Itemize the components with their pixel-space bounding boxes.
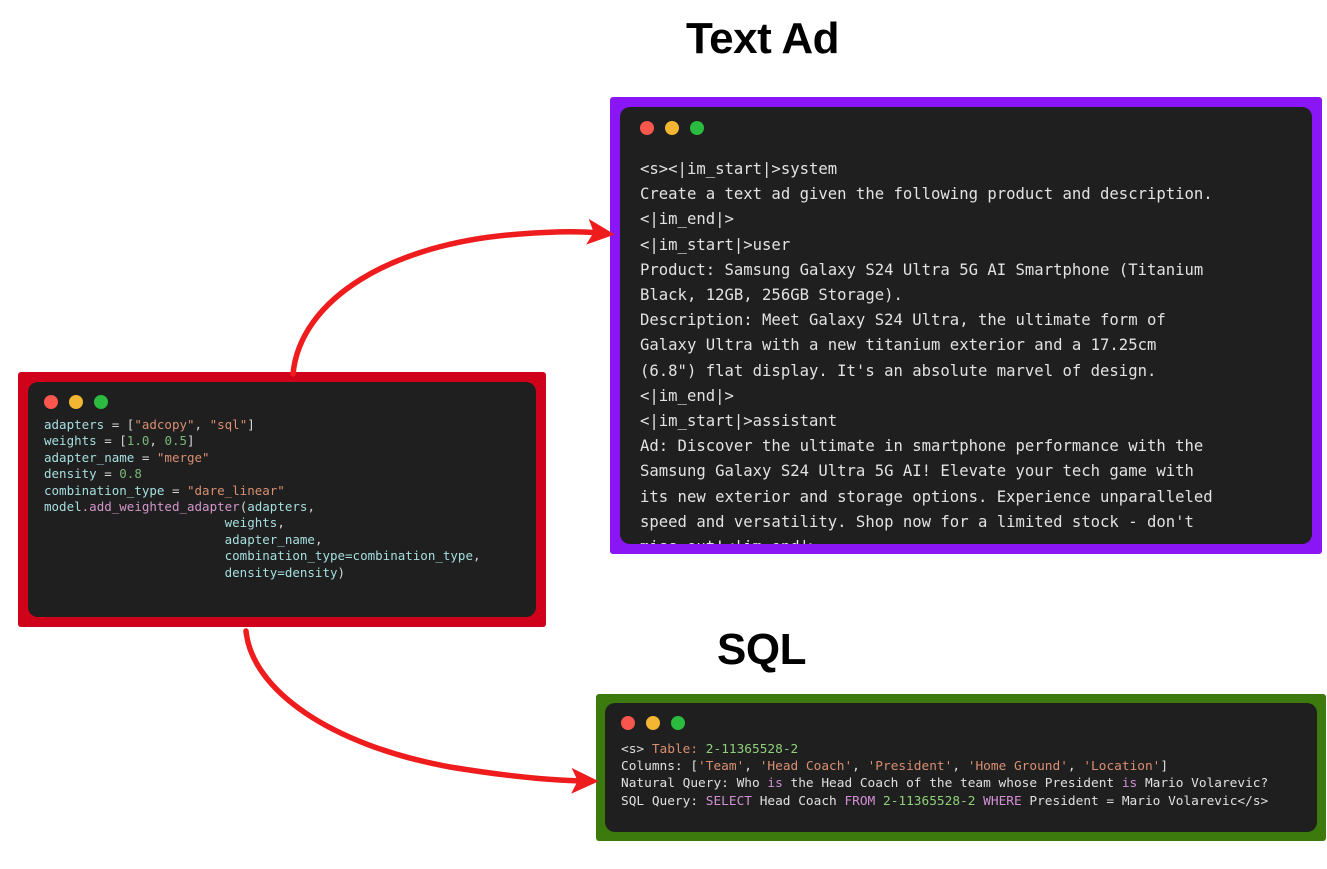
arrow-code-to-text-ad [293,232,600,374]
text-ad-panel: <s><|im_start|>system Create a text ad g… [610,97,1322,554]
window-controls [621,716,1303,730]
close-icon[interactable] [621,716,635,730]
maximize-icon[interactable] [671,716,685,730]
code-panel: adapters = ["adcopy", "sql"] weights = [… [18,372,546,627]
diagram-canvas: Text Ad SQL adapters = ["adcopy", "sql"]… [0,0,1327,869]
minimize-icon[interactable] [69,395,83,409]
maximize-icon[interactable] [94,395,108,409]
code-panel-window: adapters = ["adcopy", "sql"] weights = [… [28,382,536,617]
window-controls [640,121,1296,135]
page-title-text-ad: Text Ad [99,14,1327,64]
minimize-icon[interactable] [665,121,679,135]
page-title-sql: SQL [98,625,1327,675]
maximize-icon[interactable] [690,121,704,135]
sql-code-block: <s> Table: 2-11365528-2 Columns: ['Team'… [621,741,1303,810]
text-ad-prompt-text: <s><|im_start|>system Create a text ad g… [640,157,1296,544]
close-icon[interactable] [640,121,654,135]
sql-panel-window: <s> Table: 2-11365528-2 Columns: ['Team'… [605,703,1317,832]
minimize-icon[interactable] [646,716,660,730]
text-ad-panel-window: <s><|im_start|>system Create a text ad g… [620,107,1312,544]
close-icon[interactable] [44,395,58,409]
window-controls [44,395,522,409]
python-code-block: adapters = ["adcopy", "sql"] weights = [… [44,417,522,581]
sql-panel: <s> Table: 2-11365528-2 Columns: ['Team'… [596,694,1326,841]
